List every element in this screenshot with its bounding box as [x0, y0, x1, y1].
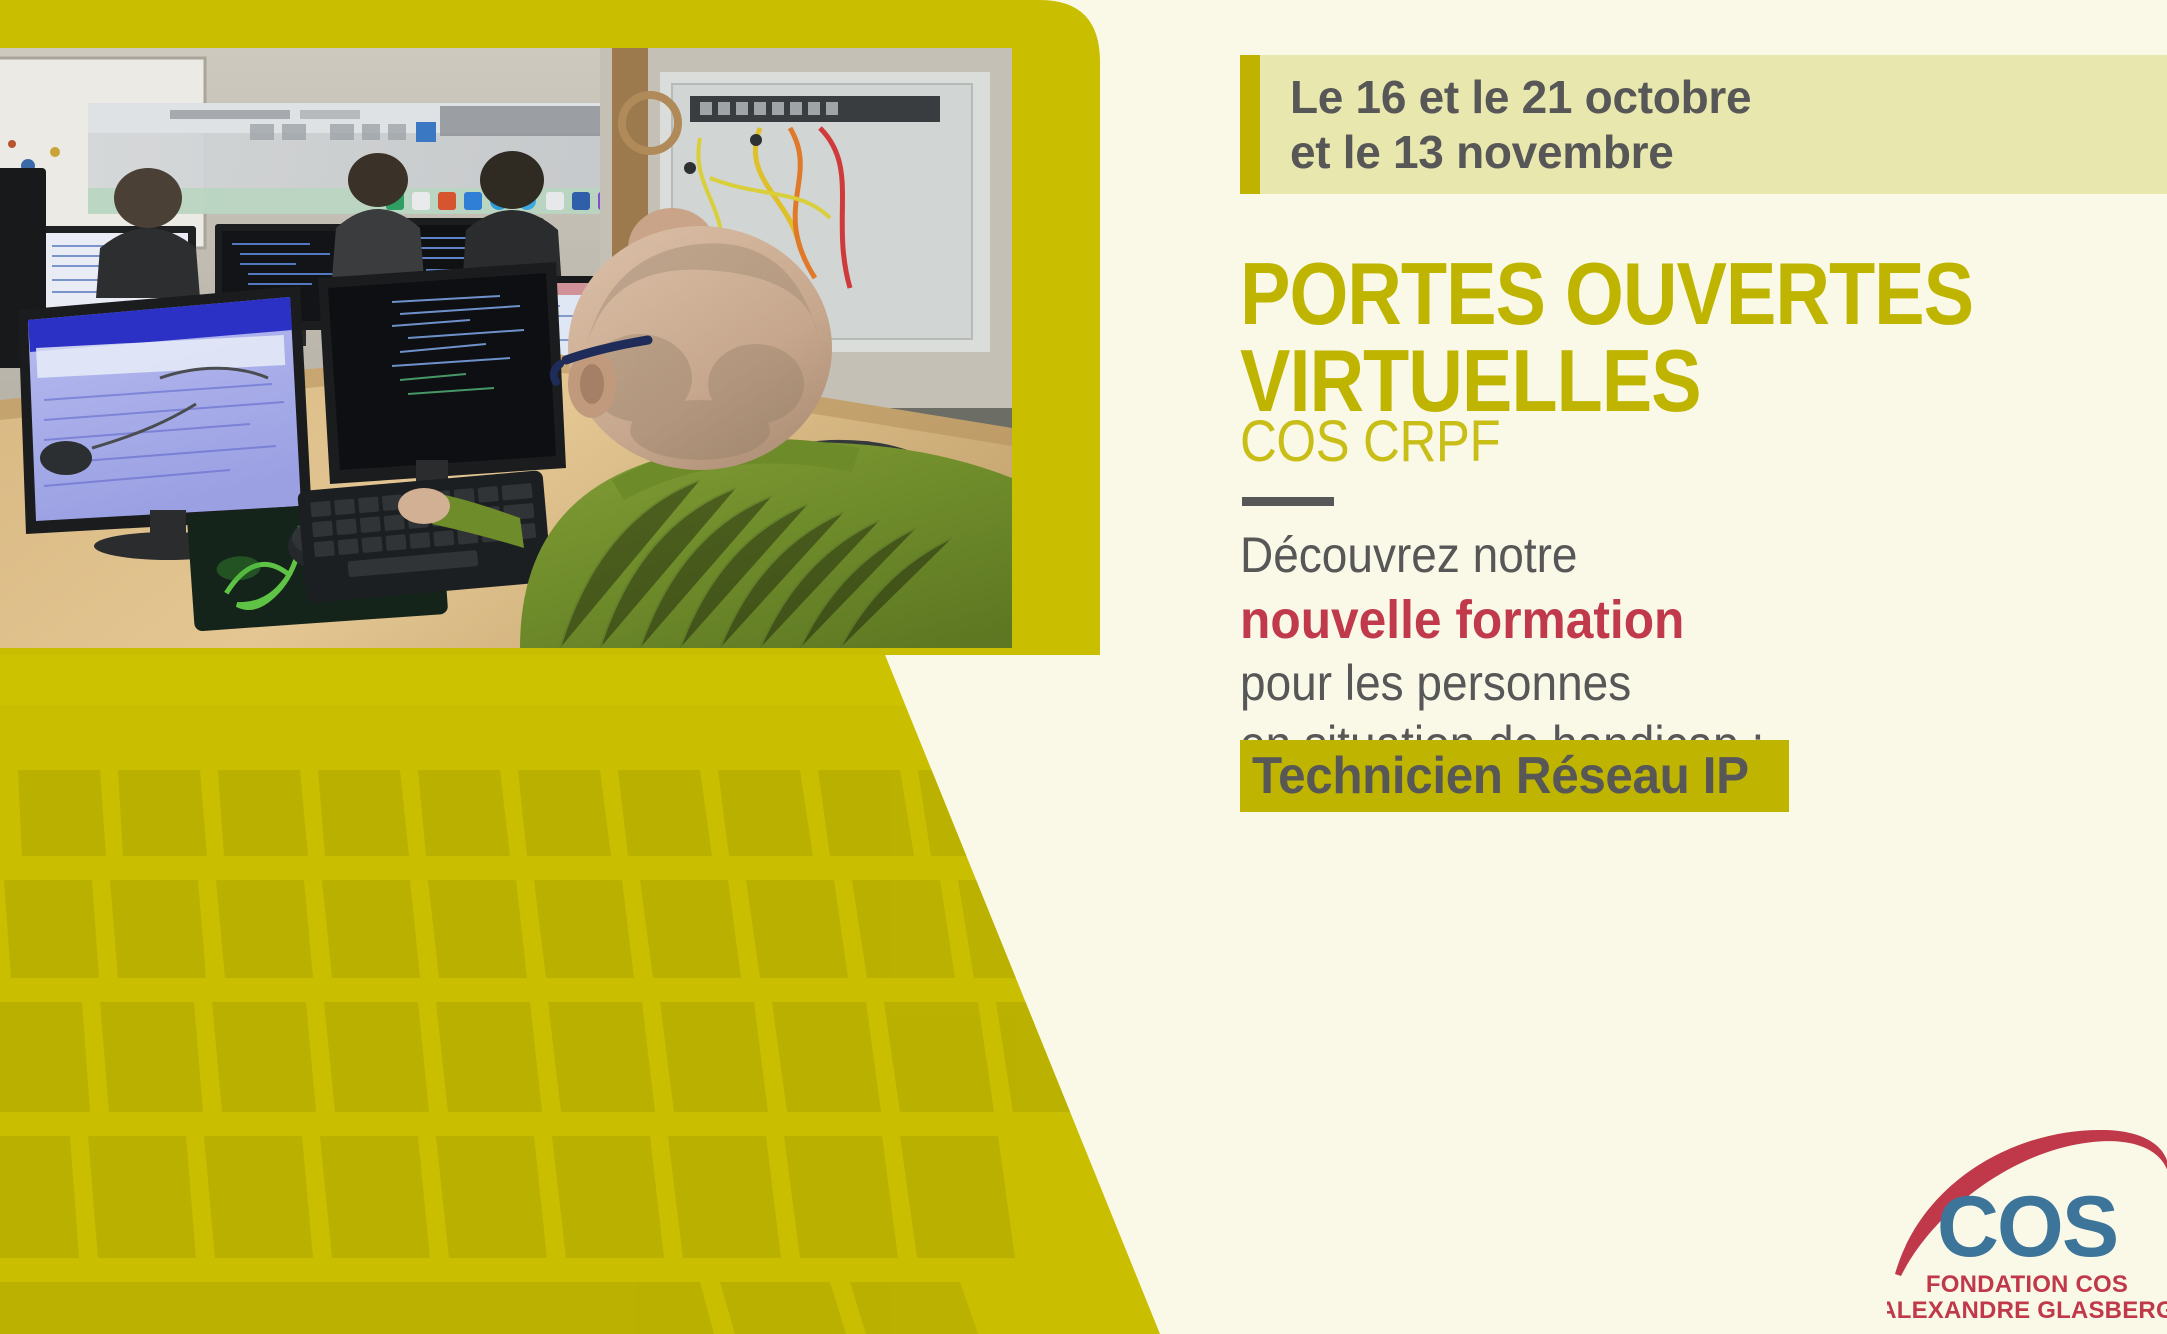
body-copy: Découvrez notre nouvelle formation pour … — [1240, 525, 1976, 776]
poster-root: Le 16 et le 21 octobre et le 13 novembre… — [0, 0, 2167, 1334]
classroom-photo-svg — [0, 48, 1012, 648]
logo-wordmark: COS — [1937, 1179, 2117, 1275]
date-banner-accent-bar — [1240, 55, 1260, 194]
logo-sub-line-2: ALEXANDRE GLASBERG — [1887, 1297, 2167, 1324]
date-banner: Le 16 et le 21 octobre et le 13 novembre — [1240, 55, 2167, 194]
date-line-1: Le 16 et le 21 octobre — [1290, 70, 1751, 124]
laptop-hinge-strip — [0, 655, 905, 705]
date-text: Le 16 et le 21 octobre et le 13 novembre — [1290, 70, 1751, 179]
headline-line-1: PORTES OUVERTES — [1240, 250, 1997, 337]
headline: PORTES OUVERTES VIRTUELLES — [1240, 250, 1997, 424]
body-line-2-highlight: nouvelle formation — [1240, 587, 1976, 653]
body-line-3: pour les personnes — [1240, 653, 1976, 715]
subhead-cos-crpf: COS CRPF — [1240, 413, 1856, 471]
date-line-2: et le 13 novembre — [1290, 125, 1751, 179]
right-panel: Le 16 et le 21 octobre et le 13 novembre… — [1240, 0, 2167, 1334]
body-line-1: Découvrez notre — [1240, 525, 1976, 587]
job-title-badge: Technicien Réseau IP — [1240, 740, 1789, 812]
divider-rule — [1242, 497, 1334, 506]
logo-sub-line-1: FONDATION COS — [1926, 1271, 2128, 1298]
job-title-text: Technicien Réseau IP — [1252, 746, 1749, 806]
cos-logo: COS FONDATION COS ALEXANDRE GLASBERG — [1887, 1124, 2167, 1334]
classroom-photo — [0, 48, 1012, 648]
